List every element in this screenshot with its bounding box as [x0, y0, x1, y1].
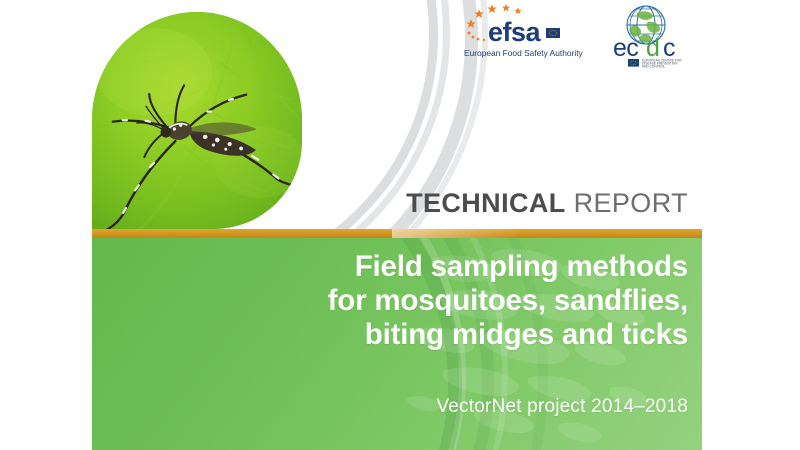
cover-upper-section: efsa European Food Safety Authority: [92, 0, 702, 229]
report-type-bold: TECHNICAL: [406, 188, 566, 218]
svg-text:AND CONTROL: AND CONTROL: [642, 65, 665, 68]
title-line-2: for mosquitoes, sandflies,: [92, 284, 688, 318]
report-title: Field sampling methods for mosquitoes, s…: [92, 250, 688, 352]
svg-text:efsa: efsa: [488, 17, 542, 47]
svg-text:ec: ec: [613, 34, 638, 62]
title-line-3: biting midges and ticks: [92, 318, 688, 352]
ecdc-logo: ec d c EUROPEAN CENTRE FO: [606, 4, 698, 68]
efsa-logo: efsa European Food Safety Authority: [462, 4, 598, 62]
ecdc-tagline: EUROPEAN CENTRE FOR DISEASE PREVENTION A…: [642, 59, 682, 68]
report-type-label: TECHNICAL REPORT: [92, 190, 688, 217]
report-cover-page: efsa European Food Safety Authority: [92, 0, 702, 450]
title-line-1: Field sampling methods: [92, 250, 688, 284]
eu-flag-icon: [628, 59, 639, 67]
orange-divider-band: [92, 229, 702, 238]
eu-flag-icon: [546, 28, 560, 38]
report-subtitle: VectorNet project 2014–2018: [92, 396, 688, 418]
efsa-tagline: European Food Safety Authority: [464, 48, 584, 58]
logo-row: efsa European Food Safety Authority: [462, 4, 698, 66]
report-type-light: REPORT: [566, 188, 688, 218]
cover-title-panel: Field sampling methods for mosquitoes, s…: [92, 238, 702, 450]
